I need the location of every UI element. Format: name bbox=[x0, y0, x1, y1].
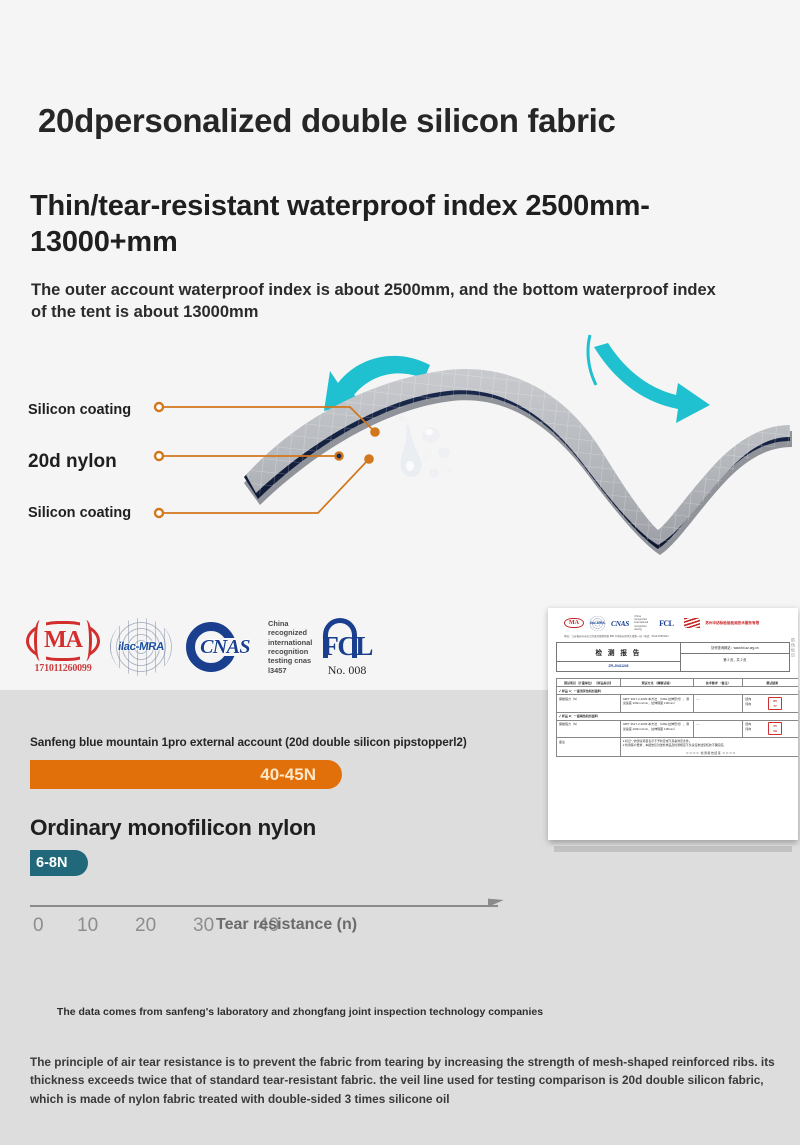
report-company-name: 苏州中纺标检验检测技术服务有限 bbox=[705, 621, 759, 626]
row-b-method: GB/T 3917.2-2009 本方法 （CRE 拉伸形式），测试速度 100… bbox=[620, 720, 694, 737]
table-row: 撕破强力（N） GB/T 3917.2-2009 本方法 （CRE 拉伸形式），… bbox=[557, 695, 799, 712]
test-report-document[interactable]: MA ilac-MRA CNAS China recognized intern… bbox=[548, 608, 800, 863]
row-b-weft-value: 58 bbox=[773, 729, 776, 734]
certification-logo-row: MA 171011260099 ilac-MRA CNAS China reco… bbox=[26, 608, 366, 686]
globe-icon: ilac-MRA bbox=[110, 618, 172, 676]
ma-icon: MA bbox=[26, 621, 100, 661]
ilac-logo-text: ilac-MRA bbox=[117, 641, 165, 653]
fcl-logo-text: FCL bbox=[322, 631, 372, 662]
report-cnas-side-text: China recognized international recogniti… bbox=[634, 615, 654, 631]
fcl-certification-logo: FCL No. 008 bbox=[322, 616, 372, 678]
ilac-mra-certification-logo: ilac-MRA bbox=[110, 618, 172, 676]
x-tick-3: 30 bbox=[193, 915, 214, 937]
bar-category-label-2: Ordinary monofilicon nylon bbox=[30, 815, 316, 841]
report-title-left: 检 测 报 告 ZFLJ0411245 bbox=[557, 643, 681, 671]
report-title-right: 协作查询网站：www.fct-sz.org.cn 第 2 页，共 2 页 bbox=[681, 643, 789, 671]
cnas-accreditation-text: China recognized international recogniti… bbox=[268, 619, 312, 676]
principle-description: The principle of air tear resistance is … bbox=[30, 1053, 776, 1108]
ma-certification-logo: MA 171011260099 bbox=[26, 621, 100, 674]
table-row: ✓ 样品 A：一面浅灰色机织面料 bbox=[557, 687, 799, 695]
table-row: ✓ 样品 B：一面褐色机织面料 bbox=[557, 712, 799, 720]
callout-label-silicon-coating-bottom: Silicon coating bbox=[28, 505, 131, 521]
report-title-cn: 检 测 报 告 bbox=[557, 643, 680, 661]
row-a-weft-label: 纬向 bbox=[745, 702, 751, 707]
bar-value-label-2: 6-8N bbox=[36, 855, 67, 871]
report-company-mark-icon bbox=[684, 618, 700, 628]
callout-label-20d-nylon: 20d nylon bbox=[28, 451, 117, 473]
callout-label-silicon-coating-top: Silicon coating bbox=[28, 402, 131, 418]
sample-b-label: ✓ 样品 B：一面褐色机织面料 bbox=[557, 712, 799, 720]
fcl-icon: FCL bbox=[322, 616, 372, 662]
bar-value-label-1: 40-45N bbox=[260, 765, 316, 785]
row-a-method: GB/T 3917.2-2009 本方法 （CRE 拉伸形式），测试速度 100… bbox=[620, 695, 694, 712]
x-tick-0: 0 bbox=[33, 915, 44, 937]
tear-resistance-bar-chart: Sanfeng blue mountain 1pro external acco… bbox=[30, 735, 530, 950]
data-source-note: The data comes from sanfeng's laboratory… bbox=[40, 1005, 560, 1020]
note-label: 备注 bbox=[557, 738, 621, 757]
row-a-warp-value: 80 bbox=[773, 699, 776, 704]
table-header-row: 测试项目（计量单位） 【样品标识】 测试方法 （摘要试验） 技术要求 （备注） … bbox=[557, 678, 799, 686]
row-b-weft-label: 纬向 bbox=[745, 727, 751, 732]
note-body: 1 标记"-"的测试项目表示不予判定或不具备判定条件。 2 检测客户要求，本报告… bbox=[620, 738, 798, 757]
row-b-item: 撕破强力（N） bbox=[557, 720, 621, 737]
x-axis-title: Tear resistance (n) bbox=[216, 916, 357, 934]
row-a-result: 经向 纬向 80 77 bbox=[743, 695, 798, 712]
row-b-result-highlight: 55 58 bbox=[768, 722, 781, 735]
table-row: 备注 1 标记"-"的测试项目表示不予判定或不具备判定条件。 2 检测客户要求，… bbox=[557, 738, 799, 757]
ma-logo-text: MA bbox=[44, 627, 82, 654]
report-fcl-icon: FCL bbox=[659, 619, 673, 628]
row-a-result-highlight: 80 77 bbox=[768, 697, 781, 710]
report-title-box: 检 测 报 告 ZFLJ0411245 协作查询网站：www.fct-sz.or… bbox=[556, 642, 790, 672]
cnas-logo-text: CNAS bbox=[200, 636, 250, 659]
ma-certificate-number: 171011260099 bbox=[26, 663, 100, 674]
row-a-weft-value: 77 bbox=[773, 704, 776, 709]
report-number: ZFLJ0411245 bbox=[557, 661, 680, 671]
table-row: 撕破强力（N） GB/T 3917.2-2009 本方法 （CRE 拉伸形式），… bbox=[557, 720, 799, 737]
fcl-certificate-number: No. 008 bbox=[322, 663, 372, 678]
row-b-spec: — bbox=[694, 720, 743, 737]
report-logo-row: MA ilac-MRA CNAS China recognized intern… bbox=[554, 613, 792, 634]
bar-sanfeng: 40-45N bbox=[30, 760, 342, 789]
row-a-warp-label: 经向 bbox=[745, 697, 751, 702]
th-spec: 技术要求 （备注） bbox=[694, 678, 743, 686]
row-a-item: 撕破强力（N） bbox=[557, 695, 621, 712]
sample-a-label: ✓ 样品 A：一面浅灰色机织面料 bbox=[557, 687, 799, 695]
report-page-label: 第 2 页，共 2 页 bbox=[681, 653, 789, 664]
page-subtitle: Thin/tear-resistant waterproof index 250… bbox=[30, 188, 775, 261]
x-axis-line bbox=[30, 905, 498, 907]
document-page-stack-back bbox=[554, 846, 792, 852]
report-anti-counterfeit-stamp: 防伪标识 bbox=[790, 638, 796, 658]
report-results-table: 测试项目（计量单位） 【样品标识】 测试方法 （摘要试验） 技术要求 （备注） … bbox=[556, 678, 798, 757]
report-site-label: 协作查询网站：www.fct-sz.org.cn bbox=[681, 643, 789, 653]
row-a-spec: — bbox=[694, 695, 743, 712]
cnas-certification-logo: CNAS bbox=[182, 621, 258, 673]
bar-category-label-1: Sanfeng blue mountain 1pro external acco… bbox=[30, 735, 467, 749]
th-item: 测试项目（计量单位） 【样品标识】 bbox=[557, 678, 621, 686]
cnas-icon: CNAS bbox=[182, 621, 258, 673]
th-method: 测试方法 （摘要试验） bbox=[620, 678, 694, 686]
report-ma-icon: MA bbox=[564, 618, 584, 628]
report-ilac-icon: ilac-MRA bbox=[589, 616, 606, 631]
th-result: 测试结果 bbox=[743, 678, 798, 686]
callout-annotations: Silicon coating 20d nylon Silicon coatin… bbox=[0, 325, 800, 565]
page-title: 20dpersonalized double silicon fabric bbox=[38, 103, 768, 139]
report-address-line: 地址：江苏省苏州市吴江区盛泽镇舜新路 888 号中纺标检测大楼第一层 / 电话：… bbox=[554, 634, 792, 642]
page-description: The outer account waterproof index is ab… bbox=[31, 280, 731, 324]
report-end-marker: ＝＝＝＝ 检测报告结束 ＝＝＝＝ bbox=[623, 748, 798, 755]
bar-ordinary-nylon: 6-8N bbox=[30, 850, 88, 876]
x-tick-2: 20 bbox=[135, 915, 156, 937]
report-cnas-icon: CNAS bbox=[611, 619, 629, 628]
x-tick-1: 10 bbox=[77, 915, 98, 937]
product-infographic-page: 20dpersonalized double silicon fabric Th… bbox=[0, 0, 800, 1145]
test-report-page: MA ilac-MRA CNAS China recognized intern… bbox=[548, 608, 798, 840]
row-b-result: 经向 纬向 55 58 bbox=[743, 720, 798, 737]
